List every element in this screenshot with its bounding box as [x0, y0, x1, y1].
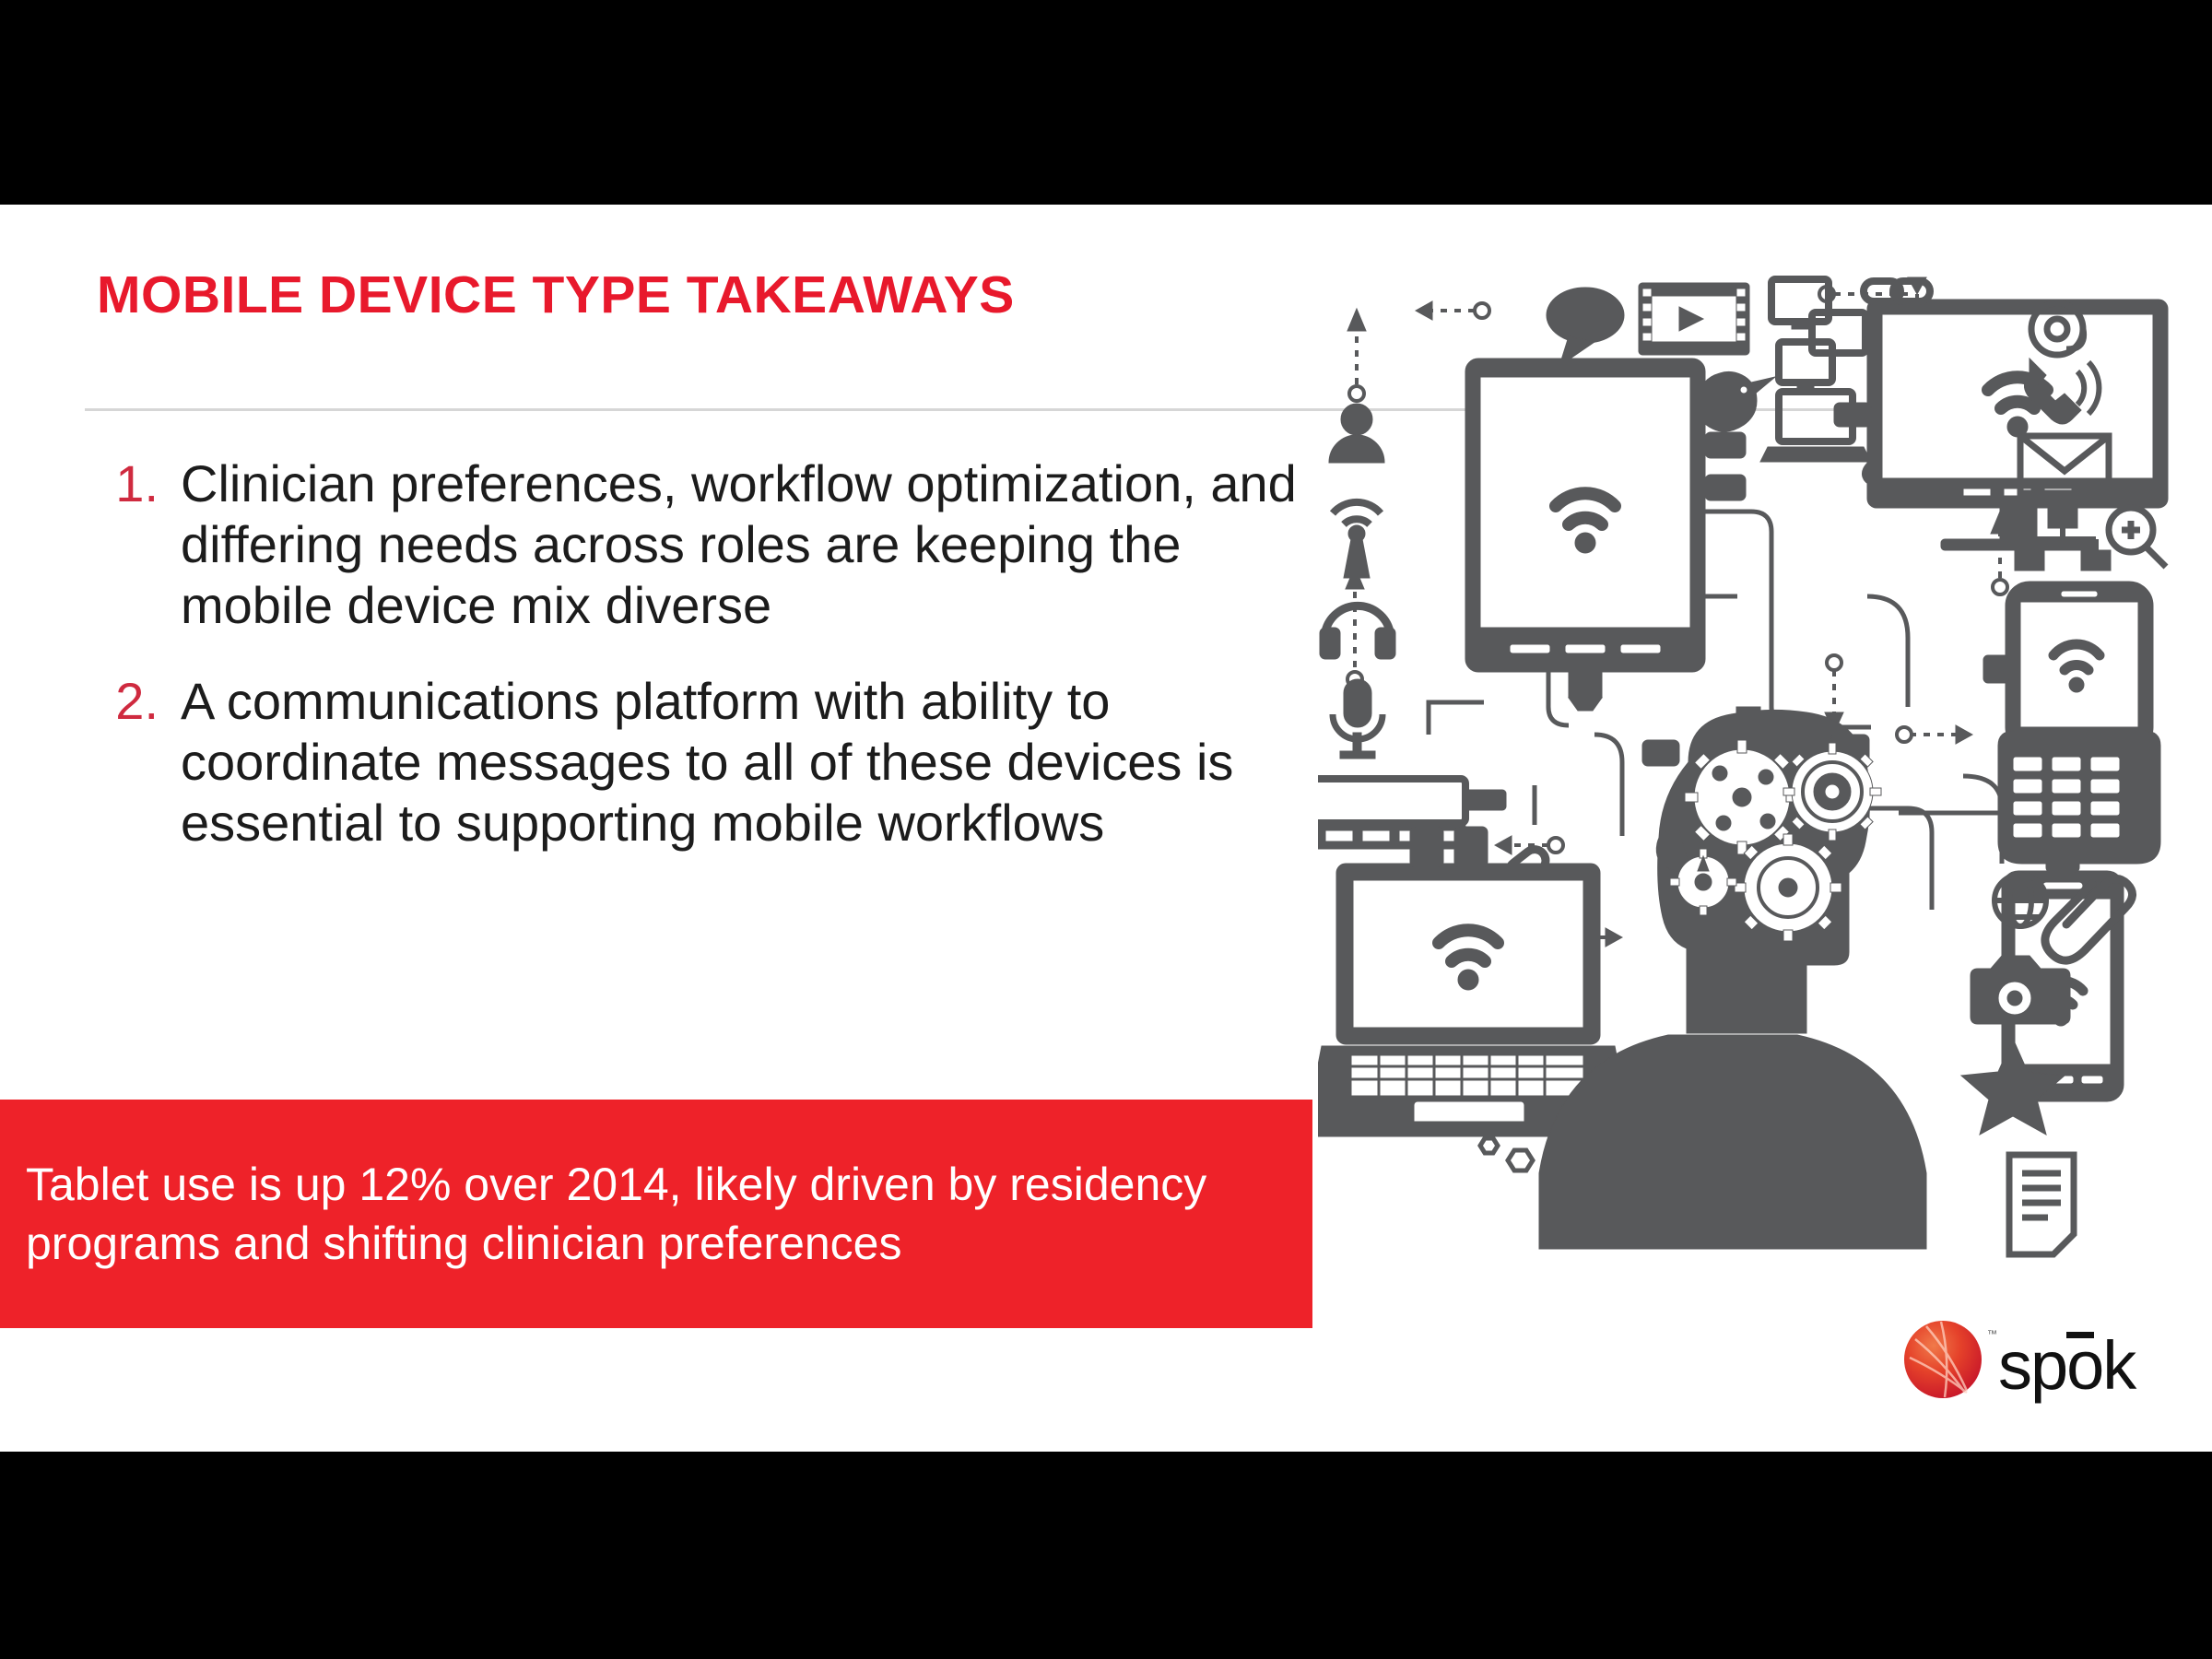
slide-viewport: MOBILE DEVICE TYPE TAKEAWAYS 1. Clinicia… — [0, 0, 2212, 1659]
list-item: 1. Clinician preferences, workflow optim… — [81, 453, 1316, 636]
callout-text: Tablet use is up 12% over 2014, likely d… — [0, 1155, 1312, 1273]
letterbox-bar-bottom — [0, 1452, 2212, 1659]
takeaways-list: 1. Clinician preferences, workflow optim… — [81, 453, 1316, 888]
letterbox-bar-top — [0, 0, 2212, 205]
page-title: MOBILE DEVICE TYPE TAKEAWAYS — [97, 265, 1015, 325]
spok-wordmark: spok — [1998, 1327, 2137, 1404]
list-item-text: A communications platform with ability t… — [181, 672, 1233, 852]
trademark-symbol: ™ — [1987, 1329, 1997, 1340]
list-item-marker: 2. — [81, 671, 159, 732]
connected-devices-head-illustration — [1318, 274, 2175, 1283]
spok-logo: ™ spok — [1899, 1306, 2166, 1421]
highlight-callout-banner: Tablet use is up 12% over 2014, likely d… — [0, 1100, 1312, 1328]
list-item-text: Clinician preferences, workflow optimiza… — [181, 454, 1297, 634]
presentation-slide: MOBILE DEVICE TYPE TAKEAWAYS 1. Clinicia… — [0, 205, 2212, 1452]
list-item: 2. A communications platform with abilit… — [81, 671, 1316, 853]
list-item-marker: 1. — [81, 453, 159, 514]
